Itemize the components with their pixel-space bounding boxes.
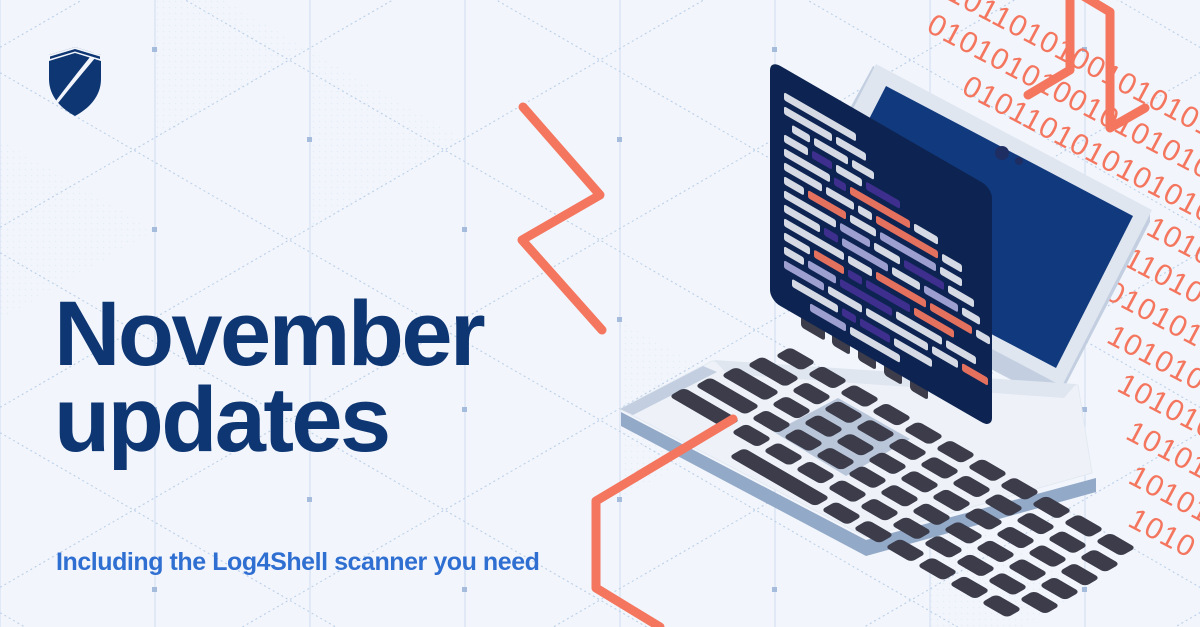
page-title: November updates xyxy=(54,291,483,464)
shield-logo[interactable] xyxy=(44,45,106,119)
banner-canvas: 0101101010010101010101010101010 01010101… xyxy=(0,0,1200,627)
page-subtitle: Including the Log4Shell scanner you need xyxy=(56,548,539,577)
